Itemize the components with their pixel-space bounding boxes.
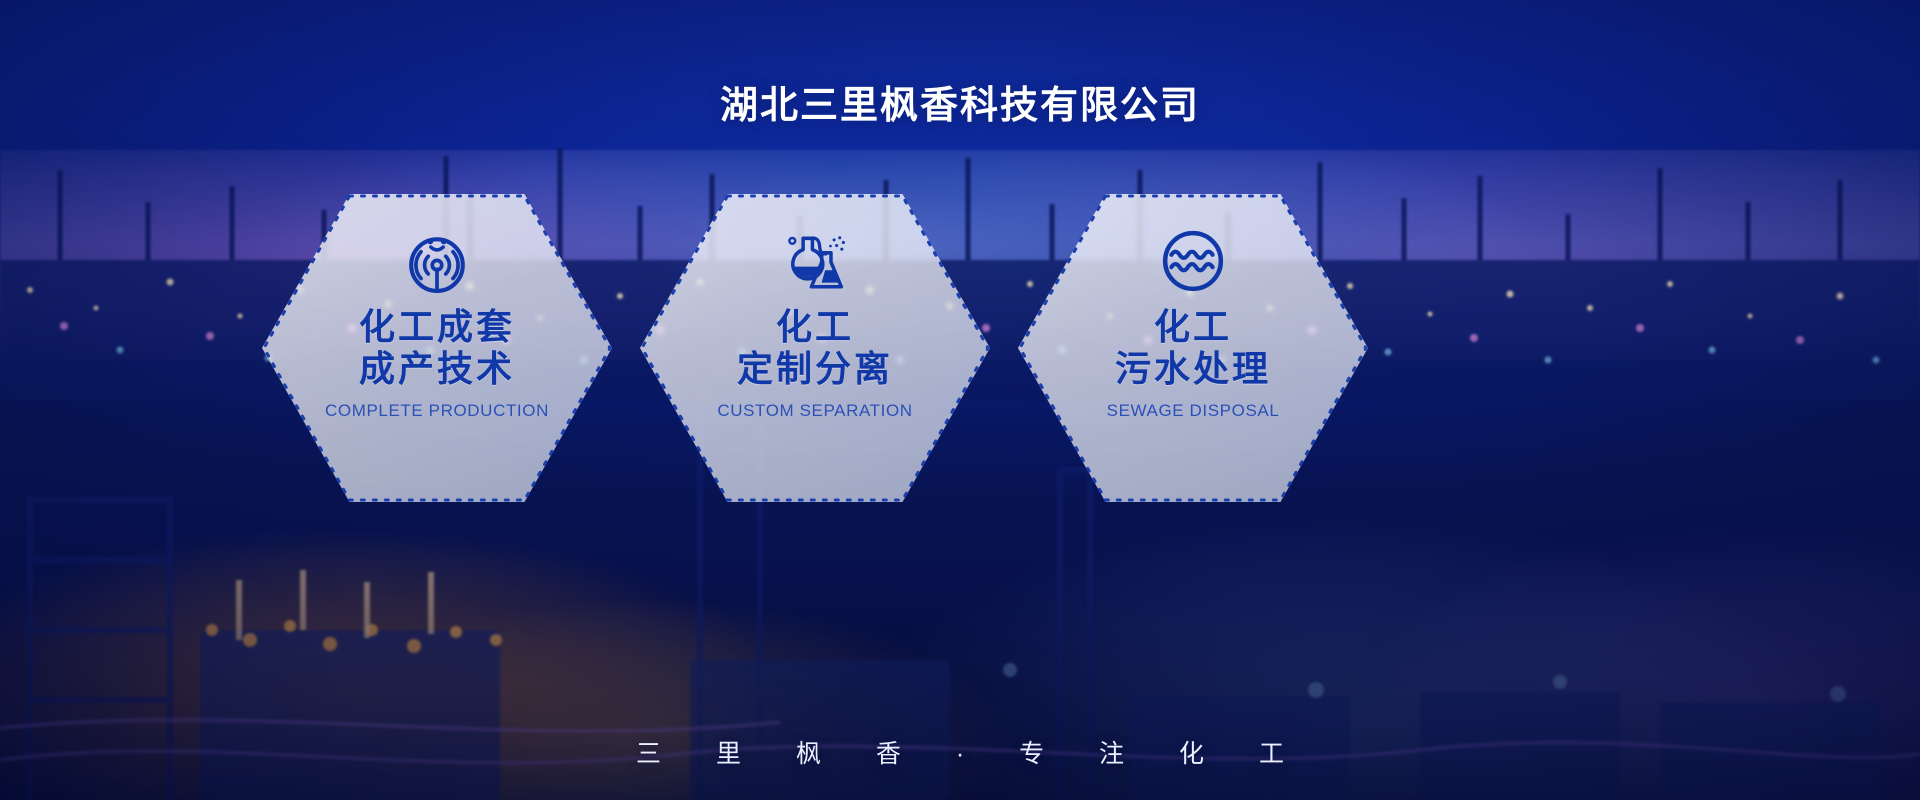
- feature-title: 化工 定制分离: [737, 306, 893, 390]
- feature-title-line1: 化工成套: [359, 306, 515, 348]
- feature-title-line2: 定制分离: [737, 348, 893, 390]
- feature-title-line1: 化工: [1115, 306, 1271, 348]
- feature-card-sewage-disposal[interactable]: 化工 污水处理 SEWAGE DISPOSAL: [1018, 194, 1368, 502]
- feature-title-line1: 化工: [737, 306, 893, 348]
- water-waves-circle-icon: [1160, 228, 1226, 294]
- chemistry-flasks-icon: [782, 228, 848, 294]
- feature-card-complete-production[interactable]: 化工成套 成产技术 COMPLETE PRODUCTION: [262, 194, 612, 502]
- feature-title: 化工 污水处理: [1115, 306, 1271, 390]
- feature-title-line2: 污水处理: [1115, 348, 1271, 390]
- signal-antenna-icon: [404, 228, 470, 294]
- feature-hexagon-row: 化工成套 成产技术 COMPLETE PRODUCTION: [0, 194, 1920, 504]
- feature-subtitle: SEWAGE DISPOSAL: [1107, 401, 1280, 421]
- banner-stage: 湖北三里枫香科技有限公司: [0, 0, 1920, 800]
- feature-title: 化工成套 成产技术: [359, 306, 515, 390]
- page-title: 湖北三里枫香科技有限公司: [0, 74, 1920, 129]
- feature-title-line2: 成产技术: [359, 348, 515, 390]
- feature-subtitle: CUSTOM SEPARATION: [717, 401, 912, 421]
- footer-tagline: 三 里 枫 香 · 专 注 化 工: [0, 734, 1920, 770]
- feature-subtitle: COMPLETE PRODUCTION: [325, 401, 549, 421]
- feature-card-custom-separation[interactable]: 化工 定制分离 CUSTOM SEPARATION: [640, 194, 990, 502]
